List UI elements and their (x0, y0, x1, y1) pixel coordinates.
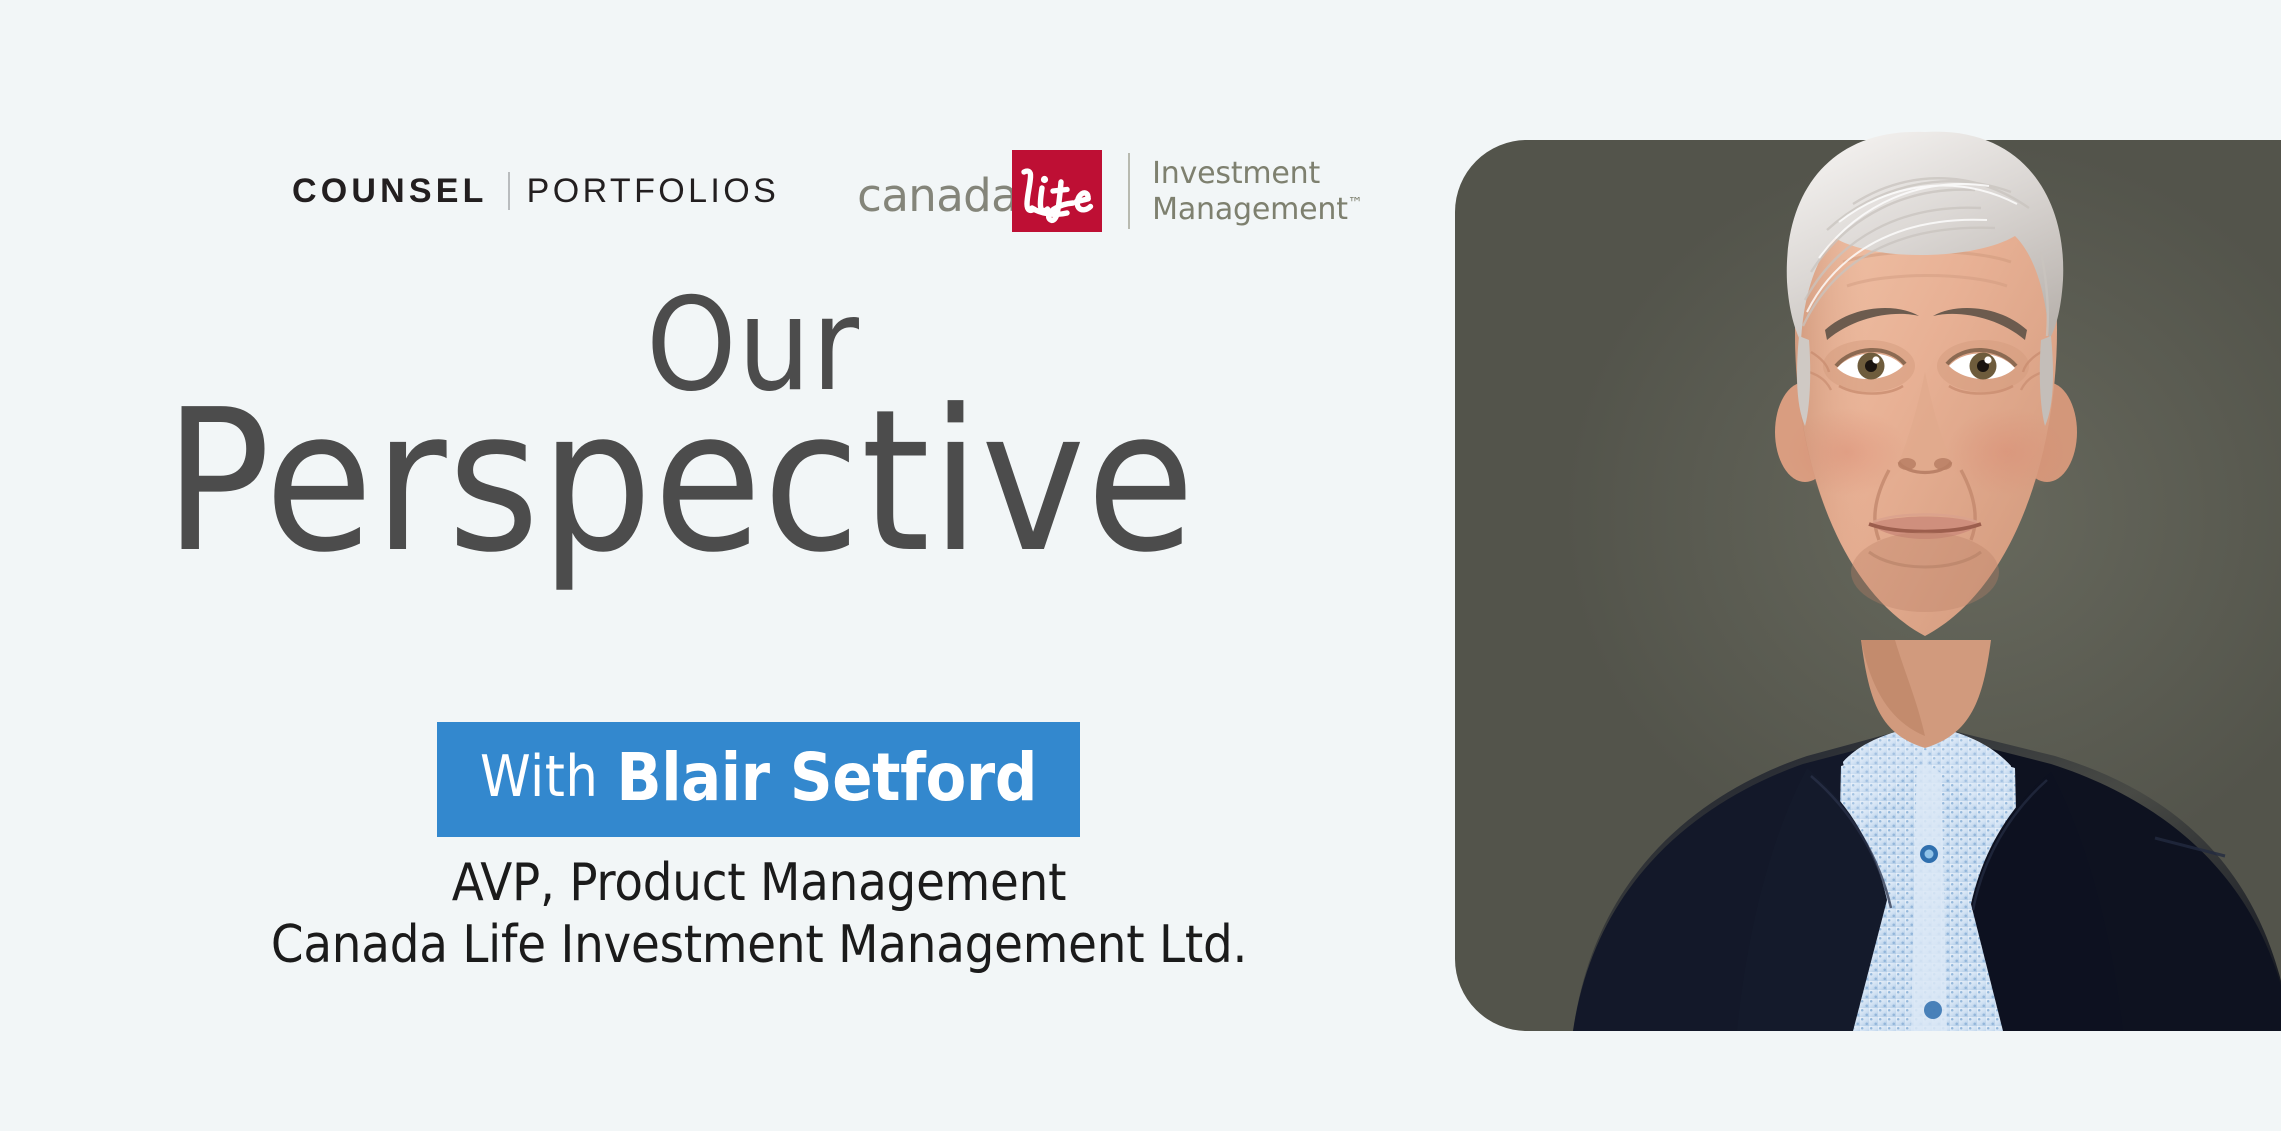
speaker-company: Canada Life Investment Management Ltd. (0, 914, 1518, 976)
descriptor-management-text: Management (1152, 192, 1348, 227)
portrait-photo (1455, 0, 2281, 1031)
logo-spacer (779, 191, 857, 192)
speaker-details-block: AVP, Product Management Canada Life Inve… (0, 852, 1518, 977)
descriptor-line-management: Management™ (1152, 192, 1363, 228)
portfolios-wordmark: PORTFOLIOS (527, 174, 780, 208)
speaker-job-title: AVP, Product Management (0, 852, 1518, 914)
headline-block: Our Perspective (0, 285, 1360, 572)
canada-life-mark: canada (857, 150, 1102, 232)
canada-wordmark: canada (857, 173, 1018, 218)
counsel-portfolios-logo[interactable]: COUNSEL PORTFOLIOS (292, 166, 779, 216)
canada-life-divider-rule (1128, 153, 1130, 229)
portrait-region (1455, 0, 2281, 1031)
investment-management-descriptor: Investment Management™ (1152, 155, 1363, 227)
canada-life-investment-management-logo[interactable]: canada (857, 150, 1363, 232)
speaker-name-banner: With Blair Setford (437, 722, 1080, 837)
life-script-wordmark (1015, 166, 1107, 224)
speaker-name-label: Blair Setford (616, 745, 1037, 811)
headline-line-perspective: Perspective (0, 392, 1360, 572)
descriptor-line-investment: Investment (1152, 156, 1363, 192)
trademark-icon: ™ (1348, 194, 1363, 212)
logo-bar: COUNSEL PORTFOLIOS canada (292, 150, 1363, 232)
counsel-divider-rule (508, 172, 510, 210)
speaker-prefix-label: With (480, 749, 598, 806)
our-perspective-banner: COUNSEL PORTFOLIOS canada (0, 0, 2281, 1131)
canada-life-red-square (1012, 150, 1102, 232)
counsel-wordmark: COUNSEL (292, 174, 488, 208)
